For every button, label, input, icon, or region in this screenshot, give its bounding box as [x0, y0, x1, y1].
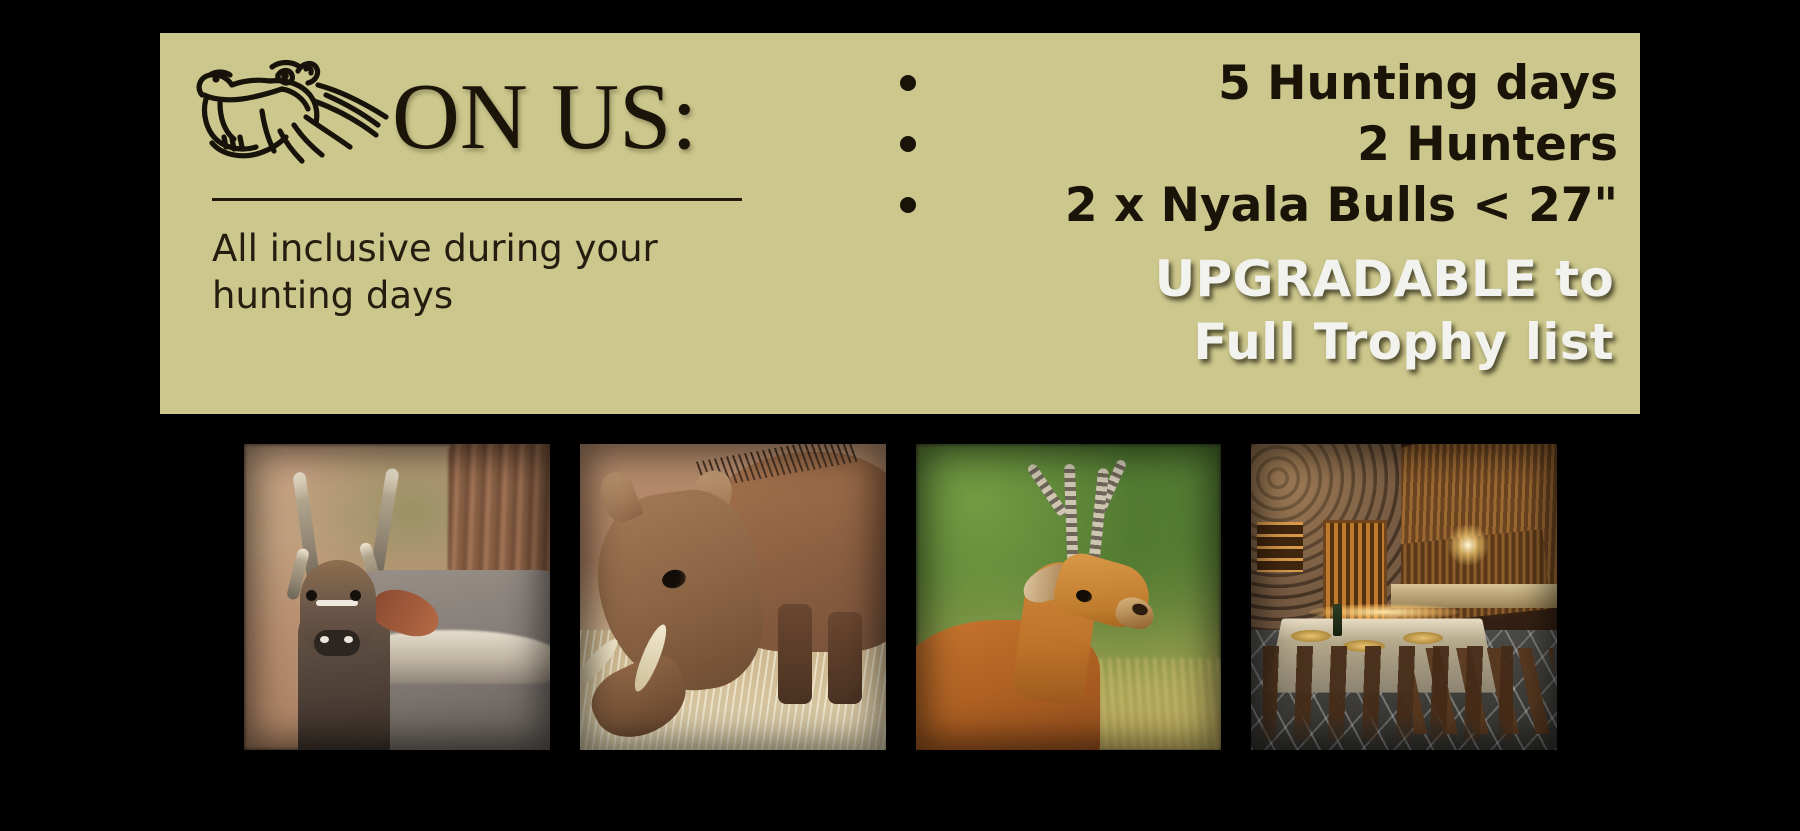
nyala-bull-scene	[244, 444, 550, 750]
divider-rule	[212, 198, 742, 201]
photo-gallery-strip	[244, 444, 1557, 750]
upgrade-line-2: Full Trophy list	[888, 311, 1614, 374]
list-item: 2 x Nyala Bulls < 27"	[888, 175, 1618, 236]
banner-right-column: 5 Hunting days 2 Hunters 2 x Nyala Bulls…	[888, 53, 1618, 374]
offer-banner: ON US: All inclusive during your hunting…	[160, 33, 1640, 414]
list-item: 5 Hunting days	[888, 53, 1618, 114]
slide-canvas: ON US: All inclusive during your hunting…	[0, 0, 1800, 831]
upgrade-callout: UPGRADABLE to Full Trophy list	[888, 248, 1618, 374]
wordmark-text: ON US:	[392, 70, 698, 164]
bullet-dot-icon	[900, 197, 916, 213]
hippo-head-icon	[190, 51, 400, 176]
bullet-dot-icon	[900, 136, 916, 152]
bullet-text: 5 Hunting days	[1218, 56, 1618, 111]
lodge-dining-photo[interactable]	[1251, 444, 1557, 750]
warthog-scene	[580, 444, 886, 750]
impala-ram-scene	[916, 444, 1222, 750]
banner-left-column: ON US: All inclusive during your hunting…	[190, 51, 850, 320]
tagline-text: All inclusive during your hunting days	[212, 225, 732, 320]
offer-bullet-list: 5 Hunting days 2 Hunters 2 x Nyala Bulls…	[888, 53, 1618, 236]
nyala-bull-photo[interactable]	[244, 444, 550, 750]
impala-ram-photo[interactable]	[916, 444, 1222, 750]
brand-lockup: ON US:	[190, 51, 850, 176]
lodge-dining-scene	[1251, 444, 1557, 750]
bullet-dot-icon	[900, 75, 916, 91]
bullet-text: 2 Hunters	[1357, 117, 1618, 172]
warthog-photo[interactable]	[580, 444, 886, 750]
list-item: 2 Hunters	[888, 114, 1618, 175]
upgrade-line-1: UPGRADABLE to	[888, 248, 1614, 311]
bullet-text: 2 x Nyala Bulls < 27"	[1065, 178, 1618, 233]
